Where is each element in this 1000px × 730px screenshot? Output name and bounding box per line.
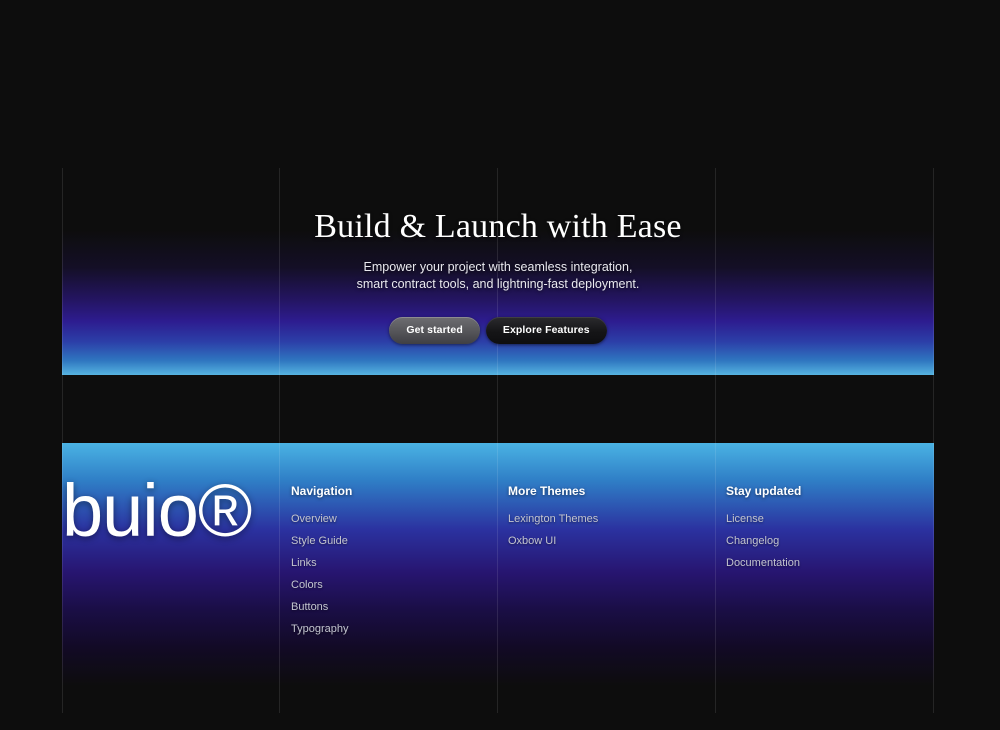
footer-link-typography[interactable]: Typography — [291, 619, 497, 641]
footer-column-more-themes: More Themes Lexington Themes Oxbow UI — [497, 478, 715, 713]
grid-line-4 — [715, 375, 716, 443]
footer-brand-column: buio® — [62, 478, 280, 713]
hero-actions: Get started Explore Features — [389, 317, 606, 344]
footer-link-style-guide[interactable]: Style Guide — [291, 531, 497, 553]
hero-subtitle-line-1: Empower your project with seamless integ… — [364, 260, 633, 274]
mid-gridlines — [62, 375, 934, 443]
get-started-button[interactable]: Get started — [389, 317, 480, 344]
site-footer: buio® Navigation Overview Style Guide Li… — [62, 443, 934, 713]
grid-line-2 — [279, 375, 280, 443]
footer-link-changelog[interactable]: Changelog — [726, 531, 934, 553]
grid-line-1 — [62, 375, 63, 443]
brand-logo[interactable]: buio® — [62, 478, 280, 545]
hero-subtitle-line-2: smart contract tools, and lightning-fast… — [357, 277, 640, 291]
explore-features-button[interactable]: Explore Features — [486, 317, 607, 344]
footer-heading-stay-updated: Stay updated — [726, 484, 934, 498]
footer-link-colors[interactable]: Colors — [291, 575, 497, 597]
footer-link-links[interactable]: Links — [291, 553, 497, 575]
grid-line-5 — [933, 375, 934, 443]
footer-content: buio® Navigation Overview Style Guide Li… — [62, 443, 934, 713]
footer-link-oxbow-ui[interactable]: Oxbow UI — [508, 531, 715, 553]
hero-content: Build & Launch with Ease Empower your pr… — [62, 168, 934, 375]
footer-column-navigation: Navigation Overview Style Guide Links Co… — [280, 478, 497, 713]
page-title: Build & Launch with Ease — [314, 208, 681, 245]
footer-heading-more-themes: More Themes — [508, 484, 715, 498]
footer-link-overview[interactable]: Overview — [291, 509, 497, 531]
footer-column-stay-updated: Stay updated License Changelog Documenta… — [715, 478, 934, 713]
grid-line-3 — [497, 375, 498, 443]
footer-link-lexington-themes[interactable]: Lexington Themes — [508, 509, 715, 531]
footer-link-documentation[interactable]: Documentation — [726, 553, 934, 575]
footer-link-buttons[interactable]: Buttons — [291, 597, 497, 619]
hero-section: Build & Launch with Ease Empower your pr… — [62, 168, 934, 375]
hero-subtitle: Empower your project with seamless integ… — [357, 259, 640, 293]
page-root: Build & Launch with Ease Empower your pr… — [0, 0, 1000, 730]
footer-heading-navigation: Navigation — [291, 484, 497, 498]
footer-link-license[interactable]: License — [726, 509, 934, 531]
